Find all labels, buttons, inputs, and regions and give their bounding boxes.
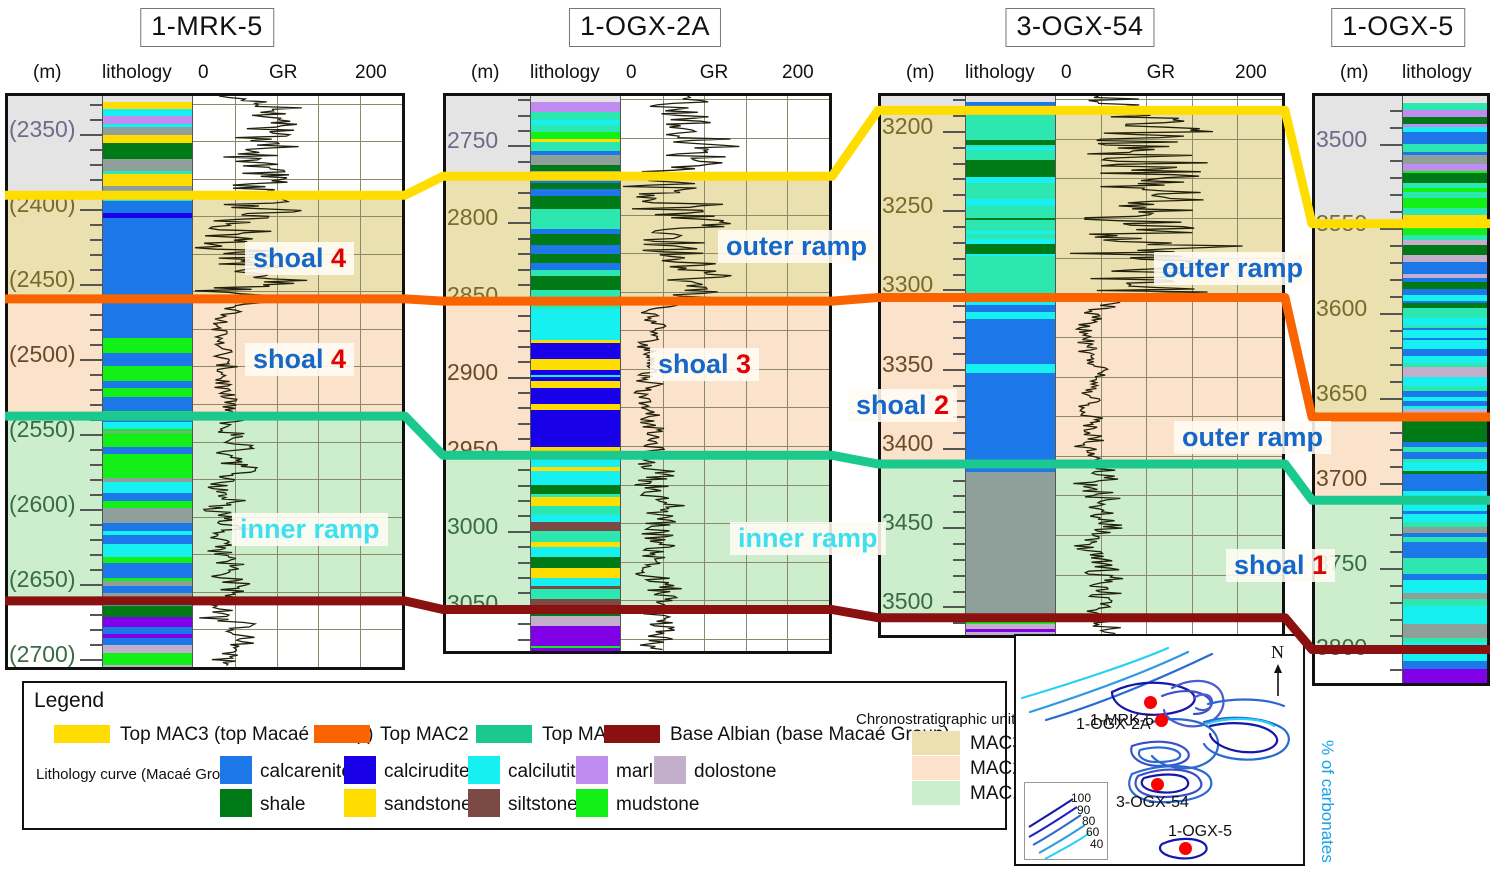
- facies-label-inner-ramp: inner ramp: [730, 522, 886, 555]
- lithology-band: [1403, 599, 1490, 606]
- depth-tick: [1380, 228, 1402, 230]
- lithology-band: [1403, 173, 1490, 183]
- lithology-column-3: [1403, 96, 1490, 683]
- depth-tick: [1380, 652, 1402, 654]
- legend-label-mudstone: mudstone: [616, 794, 699, 816]
- lithology-band: [1403, 652, 1490, 661]
- depth-label: 3550: [1316, 210, 1367, 237]
- depth-tick: [1390, 160, 1402, 162]
- depth-tick: [1390, 347, 1402, 349]
- lithology-band: [1403, 155, 1490, 164]
- legend-swatch-calcarenite: [220, 756, 252, 784]
- depth-tick: [1390, 245, 1402, 247]
- depth-tick: [1380, 313, 1402, 315]
- legend-swatch-shale: [220, 789, 252, 817]
- lithology-band: [1403, 483, 1490, 491]
- legend-label-sandstone: sandstone: [384, 794, 472, 816]
- inset-location-map: 1-MRK-5 1-OGX-2A 3-OGX-54 1-OGX-5 N 100 …: [1014, 634, 1305, 866]
- depth-label: 2950: [447, 436, 498, 463]
- facies-label-text: outer ramp: [1162, 253, 1303, 283]
- lithology-band: [1403, 514, 1490, 522]
- depth-tick: [1390, 432, 1402, 434]
- facies-label-text: shoal: [856, 390, 927, 420]
- legend-swatch-dolostone: [654, 756, 686, 784]
- depth-label: (2450): [9, 266, 75, 293]
- facies-label-text: shoal: [253, 243, 324, 273]
- lithology-band: [1403, 434, 1490, 442]
- facies-label-text: shoal: [1234, 550, 1305, 580]
- depth-tick: [1380, 144, 1402, 146]
- depth-label: 3600: [1316, 295, 1367, 322]
- legend-swatch-base-albian: [604, 725, 660, 743]
- depth-tick: [1390, 534, 1402, 536]
- legend-swatch-marl: [576, 756, 608, 784]
- depth-label: 3300: [882, 271, 933, 298]
- depth-tick: [1390, 585, 1402, 587]
- depth-label: 3050: [447, 590, 498, 617]
- lithology-band: [1403, 117, 1490, 124]
- lithology-band: [1403, 247, 1490, 255]
- legend-swatch-mac2: [912, 756, 960, 780]
- inset-well-point-3-ogx-54: [1151, 778, 1164, 791]
- depth-label: 3350: [882, 351, 933, 378]
- legend-label-calcirudite: calcirudite: [384, 761, 470, 783]
- depth-label: 3400: [882, 430, 933, 457]
- lithology-band: [1403, 215, 1490, 225]
- facies-label-outer-ramp: outer ramp: [1154, 252, 1311, 285]
- legend-label-marl: marl: [616, 761, 653, 783]
- inset-well-label-1-ogx-2a: 1-OGX-2A: [1076, 716, 1151, 734]
- facies-label-shoal-3: shoal 3: [650, 348, 759, 381]
- depth-label: 2800: [447, 204, 498, 231]
- depth-label: 2900: [447, 359, 498, 386]
- facies-label-text: inner ramp: [240, 514, 380, 544]
- depth-label: (2350): [9, 116, 75, 143]
- header-depth-unit-3: (m): [1340, 62, 1368, 84]
- lithology-band: [1403, 225, 1490, 235]
- facies-label-outer-ramp: outer ramp: [718, 230, 875, 263]
- depth-tick: [1390, 415, 1402, 417]
- facies-label-outer-ramp: outer ramp: [1174, 421, 1331, 454]
- depth-tick: [1390, 381, 1402, 383]
- facies-label-number: 2: [927, 390, 950, 420]
- header-lithology-3: lithology: [1402, 62, 1472, 84]
- depth-tick: [1390, 211, 1402, 213]
- facies-label-shoal-2: shoal 2: [848, 389, 957, 422]
- depth-label: 3500: [1316, 126, 1367, 153]
- facies-label-shoal-4: shoal 4: [245, 343, 354, 376]
- legend-label-siltstone: siltstone: [508, 794, 578, 816]
- depth-tick: [1390, 466, 1402, 468]
- legend-label-top-mac2: Top MAC2: [380, 724, 469, 746]
- lithology-band: [1403, 452, 1490, 459]
- depth-tick: [1390, 110, 1402, 112]
- facies-label-shoal-4: shoal 4: [245, 242, 354, 275]
- depth-tick: [1380, 568, 1402, 570]
- depth-label: (2400): [9, 191, 75, 218]
- lithology-band: [1403, 462, 1490, 471]
- depth-label: 3650: [1316, 380, 1367, 407]
- north-arrow-icon: [1268, 664, 1288, 698]
- depth-label: (2700): [9, 641, 75, 668]
- lithology-band: [1403, 661, 1490, 669]
- facies-label-text: inner ramp: [738, 523, 878, 553]
- depth-tick: [1390, 296, 1402, 298]
- lithology-band: [1403, 255, 1490, 262]
- legend-swatch-top-mac3: [54, 725, 110, 743]
- depth-label: 3250: [882, 192, 933, 219]
- facies-label-number: 1: [1305, 550, 1328, 580]
- depth-label: 3000: [447, 513, 498, 540]
- facies-label-text: outer ramp: [1182, 422, 1323, 452]
- legend-label-shale: shale: [260, 794, 305, 816]
- facies-label-number: 4: [324, 243, 347, 273]
- legend-swatch-calcilutite: [468, 756, 500, 784]
- facies-label-text: shoal: [253, 344, 324, 374]
- north-label: N: [1271, 642, 1284, 663]
- depth-label: (2500): [9, 341, 75, 368]
- lithology-band: [1403, 308, 1490, 318]
- depth-tick: [1390, 517, 1402, 519]
- depth-tick: [1390, 602, 1402, 604]
- lithology-band: [1403, 614, 1490, 624]
- lithology-band: [1403, 377, 1490, 386]
- depth-tick: [1390, 330, 1402, 332]
- lithology-band: [1403, 340, 1490, 349]
- inset-well-label-3-ogx-54: 3-OGX-54: [1116, 794, 1189, 812]
- facies-label-text: outer ramp: [726, 231, 867, 261]
- lithology-band: [1403, 198, 1490, 208]
- inset-well-label-1-ogx-5: 1-OGX-5: [1168, 823, 1232, 841]
- depth-label: 3450: [882, 509, 933, 536]
- inset-well-point-1-ogx-2a: [1155, 714, 1168, 727]
- inset-contour-legend: 100 90 80 60 40: [1024, 782, 1108, 860]
- lithology-band: [1403, 501, 1490, 511]
- lithology-band: [1403, 542, 1490, 549]
- depth-tick: [1390, 194, 1402, 196]
- legend-swatch-mudstone: [576, 789, 608, 817]
- lithology-band: [1403, 208, 1490, 215]
- legend-title: Legend: [34, 689, 104, 713]
- facies-label-inner-ramp: inner ramp: [232, 513, 388, 546]
- lithology-band: [1403, 491, 1490, 501]
- depth-tick: [1390, 619, 1402, 621]
- lithology-band: [1403, 330, 1490, 338]
- depth-tick: [1380, 483, 1402, 485]
- lithology-band: [1403, 367, 1490, 377]
- depth-label: (2650): [9, 566, 75, 593]
- legend-label-calcilutite: calcilutite: [508, 761, 586, 783]
- depth-label: (2600): [9, 491, 75, 518]
- legend-swatch-top-mac2: [314, 725, 370, 743]
- depth-tick: [1390, 635, 1402, 637]
- depth-label: 2750: [447, 127, 498, 154]
- facies-label-text: shoal: [658, 349, 729, 379]
- depth-tick: [1390, 500, 1402, 502]
- depth-label: 3800: [1316, 634, 1367, 661]
- depth-tick: [1390, 669, 1402, 671]
- depth-tick: [1390, 177, 1402, 179]
- lithology-band: [1403, 103, 1490, 110]
- lithology-band: [1403, 624, 1490, 633]
- legend-swatch-siltstone: [468, 789, 500, 817]
- depth-label: 3500: [882, 588, 933, 615]
- facies-label-number: 4: [324, 344, 347, 374]
- lithology-band: [1403, 137, 1490, 144]
- depth-label: (2550): [9, 416, 75, 443]
- facies-label-number: 3: [729, 349, 752, 379]
- depth-tick: [1380, 398, 1402, 400]
- legend-swatch-calcirudite: [344, 756, 376, 784]
- inset-well-point-1-ogx-5: [1179, 842, 1192, 855]
- lithology-band: [1403, 282, 1490, 289]
- legend-label-dolostone: dolostone: [694, 761, 776, 783]
- lithology-band: [1403, 681, 1490, 683]
- legend-swatch-sandstone: [344, 789, 376, 817]
- inset-well-point-1-mrk-5: [1144, 696, 1157, 709]
- lithology-band: [1403, 549, 1490, 558]
- lithology-band: [1403, 586, 1490, 593]
- legend-swatch-top-mac1: [476, 725, 532, 743]
- legend-chrono-caption: Chronostratigraphic units:: [856, 711, 1027, 728]
- legend-swatch-mac3: [912, 731, 960, 755]
- legend-swatch-mac1: [912, 781, 960, 805]
- legend-label-calcarenite: calcarenite: [260, 761, 352, 783]
- lithology-band: [1403, 164, 1490, 171]
- depth-tick: [1390, 262, 1402, 264]
- lithology-band: [1403, 642, 1490, 652]
- lithology-band: [1403, 426, 1490, 434]
- lithology-band: [1403, 318, 1490, 325]
- depth-tick: [1390, 279, 1402, 281]
- depth-label: 3700: [1316, 465, 1367, 492]
- depth-tick: [1390, 364, 1402, 366]
- inset-contour-label-40: 40: [1090, 837, 1103, 851]
- depth-label: 3200: [882, 113, 933, 140]
- percent-carbonates-axis-label: % of carbonates: [1317, 740, 1337, 863]
- legend-lithology-caption: Lithology curve (Macaé Group):: [36, 766, 246, 783]
- lithology-band: [1403, 606, 1490, 614]
- lithology-band: [1403, 356, 1490, 363]
- facies-label-shoal-1: shoal 1: [1226, 549, 1335, 582]
- legend-box: Legend Top MAC3 (top Macaé Group) Top MA…: [22, 681, 1007, 830]
- depth-label: 2850: [447, 282, 498, 309]
- lithology-band: [1403, 110, 1490, 117]
- depth-tick: [1390, 551, 1402, 553]
- well-title-1-ogx-5: 1-OGX-5: [1331, 8, 1465, 47]
- depth-tick: [1390, 127, 1402, 129]
- depth-tick: [1390, 449, 1402, 451]
- lithology-band: [1403, 349, 1490, 356]
